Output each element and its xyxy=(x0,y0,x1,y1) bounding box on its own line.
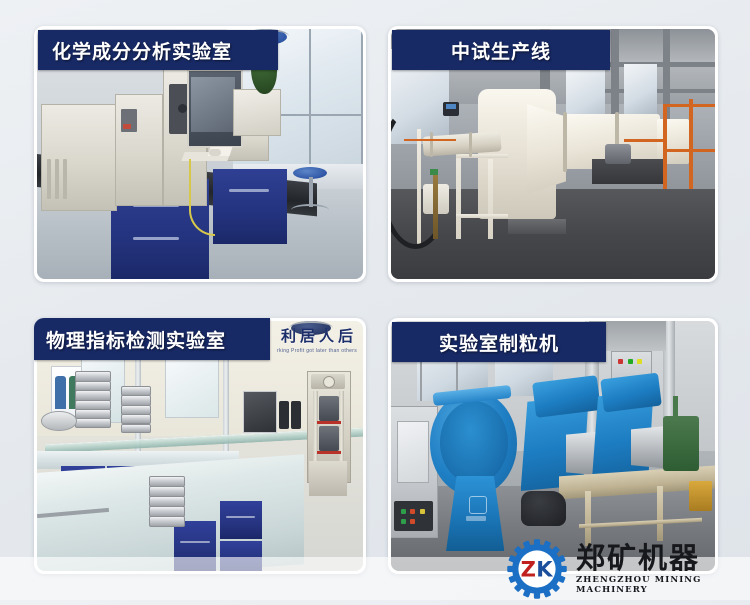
gear-drive xyxy=(605,144,631,164)
stool-stem-far xyxy=(309,177,313,207)
svg-text:Z: Z xyxy=(521,556,536,581)
yellow-bucket xyxy=(689,481,712,511)
sieve-ring xyxy=(75,390,111,400)
drum-flange xyxy=(563,112,567,172)
photo-grid: 化学成分分析实验室 xyxy=(0,0,750,600)
button-red xyxy=(410,509,415,514)
panel-3-label-band: 物理指标检测实验室 xyxy=(34,318,270,360)
sieve-stack-mid xyxy=(121,386,149,431)
pan-interior xyxy=(440,401,508,484)
speaker xyxy=(279,401,289,429)
panel-laboratory-granulator[interactable]: 实验室制粒机 xyxy=(388,318,718,574)
sieve-ring xyxy=(121,424,151,433)
dryer-transition-cone xyxy=(527,104,566,194)
press-red-band xyxy=(317,451,341,454)
granulator-cone-2 xyxy=(631,426,667,469)
mouse xyxy=(209,149,221,156)
poster-figure xyxy=(55,376,66,409)
cabinet-control-panel xyxy=(394,501,433,531)
sieve-ring xyxy=(149,486,185,497)
sieve-ring xyxy=(75,418,111,428)
handrail-bar xyxy=(663,104,715,107)
sieve-ring xyxy=(149,516,185,527)
panel-chemical-analysis-lab[interactable]: 化学成分分析实验室 xyxy=(34,26,366,282)
button-red xyxy=(410,519,415,524)
indicator-light xyxy=(123,124,131,129)
panel-pilot-production-line[interactable]: 中试生产线 xyxy=(388,26,718,282)
machine-logo-mark xyxy=(469,496,487,514)
logo-company-en: ZHENGZHOU MINING MACHINERY xyxy=(576,575,750,595)
company-logo: Z K 郑矿机器 ZHENGZHOU MINING MACHINERY xyxy=(506,538,750,600)
support-rail xyxy=(456,154,508,158)
stool-base-far xyxy=(291,204,329,216)
indicator-light-green xyxy=(628,359,633,364)
monitor-screen xyxy=(191,77,235,132)
handrail-post xyxy=(689,99,693,189)
floor-plate xyxy=(508,219,566,234)
panel-1-label-band: 化学成分分析实验室 xyxy=(38,30,278,70)
sieve-stack-tall xyxy=(75,371,109,426)
cabinet-handle xyxy=(133,237,179,240)
press-column xyxy=(313,391,318,471)
valve-marker xyxy=(430,169,438,175)
cabinet-handle xyxy=(229,189,269,192)
panel-4-label-band: 实验室制粒机 xyxy=(392,322,606,362)
bench-cabinet xyxy=(213,169,287,244)
press-gauge xyxy=(323,376,335,388)
vent-slot xyxy=(55,159,59,199)
press-red-band xyxy=(317,421,341,424)
granulator-top-cover-1 xyxy=(532,375,601,418)
handrail-bar xyxy=(624,139,663,142)
green-machine-post xyxy=(673,396,678,421)
front-cabinet xyxy=(220,501,262,539)
green-machine xyxy=(663,416,699,471)
guard-rail xyxy=(404,139,456,141)
panel-physical-testing-lab[interactable]: · 利居人后 rking Profit got later than other… xyxy=(34,318,366,574)
sieve-ring xyxy=(149,496,185,507)
handrail-post xyxy=(663,104,667,189)
vent-slot xyxy=(47,159,51,199)
logo-company-cn: 郑矿机器 xyxy=(576,543,750,573)
sieve-ring xyxy=(149,506,185,517)
dark-bag xyxy=(521,491,566,526)
indicator-light-yellow xyxy=(637,359,642,364)
indicator-light-red xyxy=(618,359,623,364)
panel-1-label-text: 化学成分分析实验室 xyxy=(52,37,232,64)
button-green xyxy=(401,519,406,524)
machine-logo-text xyxy=(466,516,486,521)
support-rail xyxy=(456,214,508,218)
cabinet-door xyxy=(397,421,428,483)
svg-text:K: K xyxy=(536,556,553,581)
sieve-ring xyxy=(121,414,151,424)
bench-leg xyxy=(657,486,663,541)
press-platen-upper xyxy=(319,396,339,421)
sieve-shaker-pan xyxy=(41,411,77,431)
panel-4-label-text: 实验室制粒机 xyxy=(439,329,559,356)
speaker xyxy=(291,401,301,429)
cable xyxy=(189,159,215,236)
window-mullion xyxy=(309,29,311,184)
press-base xyxy=(309,461,347,496)
handrail-bar xyxy=(663,149,715,152)
junction-box-label xyxy=(446,104,456,109)
press-platen-lower xyxy=(319,426,339,451)
instrument-port xyxy=(178,104,187,113)
reagent-rack xyxy=(233,89,281,136)
brown-pipe xyxy=(433,174,438,239)
logo-wordmark: 郑矿机器 ZHENGZHOU MINING MACHINERY xyxy=(576,543,750,595)
gear-zk-icon: Z K xyxy=(506,538,568,600)
factory-window xyxy=(624,64,656,114)
monitor xyxy=(243,391,277,433)
button-yellow xyxy=(420,509,425,514)
pipe-flange xyxy=(469,132,472,157)
sieve-stack-front xyxy=(149,476,183,526)
sieve-ring xyxy=(149,476,185,487)
vent-slot xyxy=(63,159,67,199)
cabinet-handle xyxy=(180,541,209,543)
panel-3-label-text: 物理指标检测实验室 xyxy=(46,326,226,353)
panel-2-label-text: 中试生产线 xyxy=(451,37,551,64)
analyzer-left xyxy=(41,104,117,211)
panel-2-label-band: 中试生产线 xyxy=(392,30,610,70)
press-column xyxy=(339,391,344,471)
support-post xyxy=(488,159,493,239)
lab-window xyxy=(165,356,219,418)
cabinet-handle xyxy=(226,516,255,518)
button-green xyxy=(401,509,406,514)
window-mullion xyxy=(361,29,363,184)
